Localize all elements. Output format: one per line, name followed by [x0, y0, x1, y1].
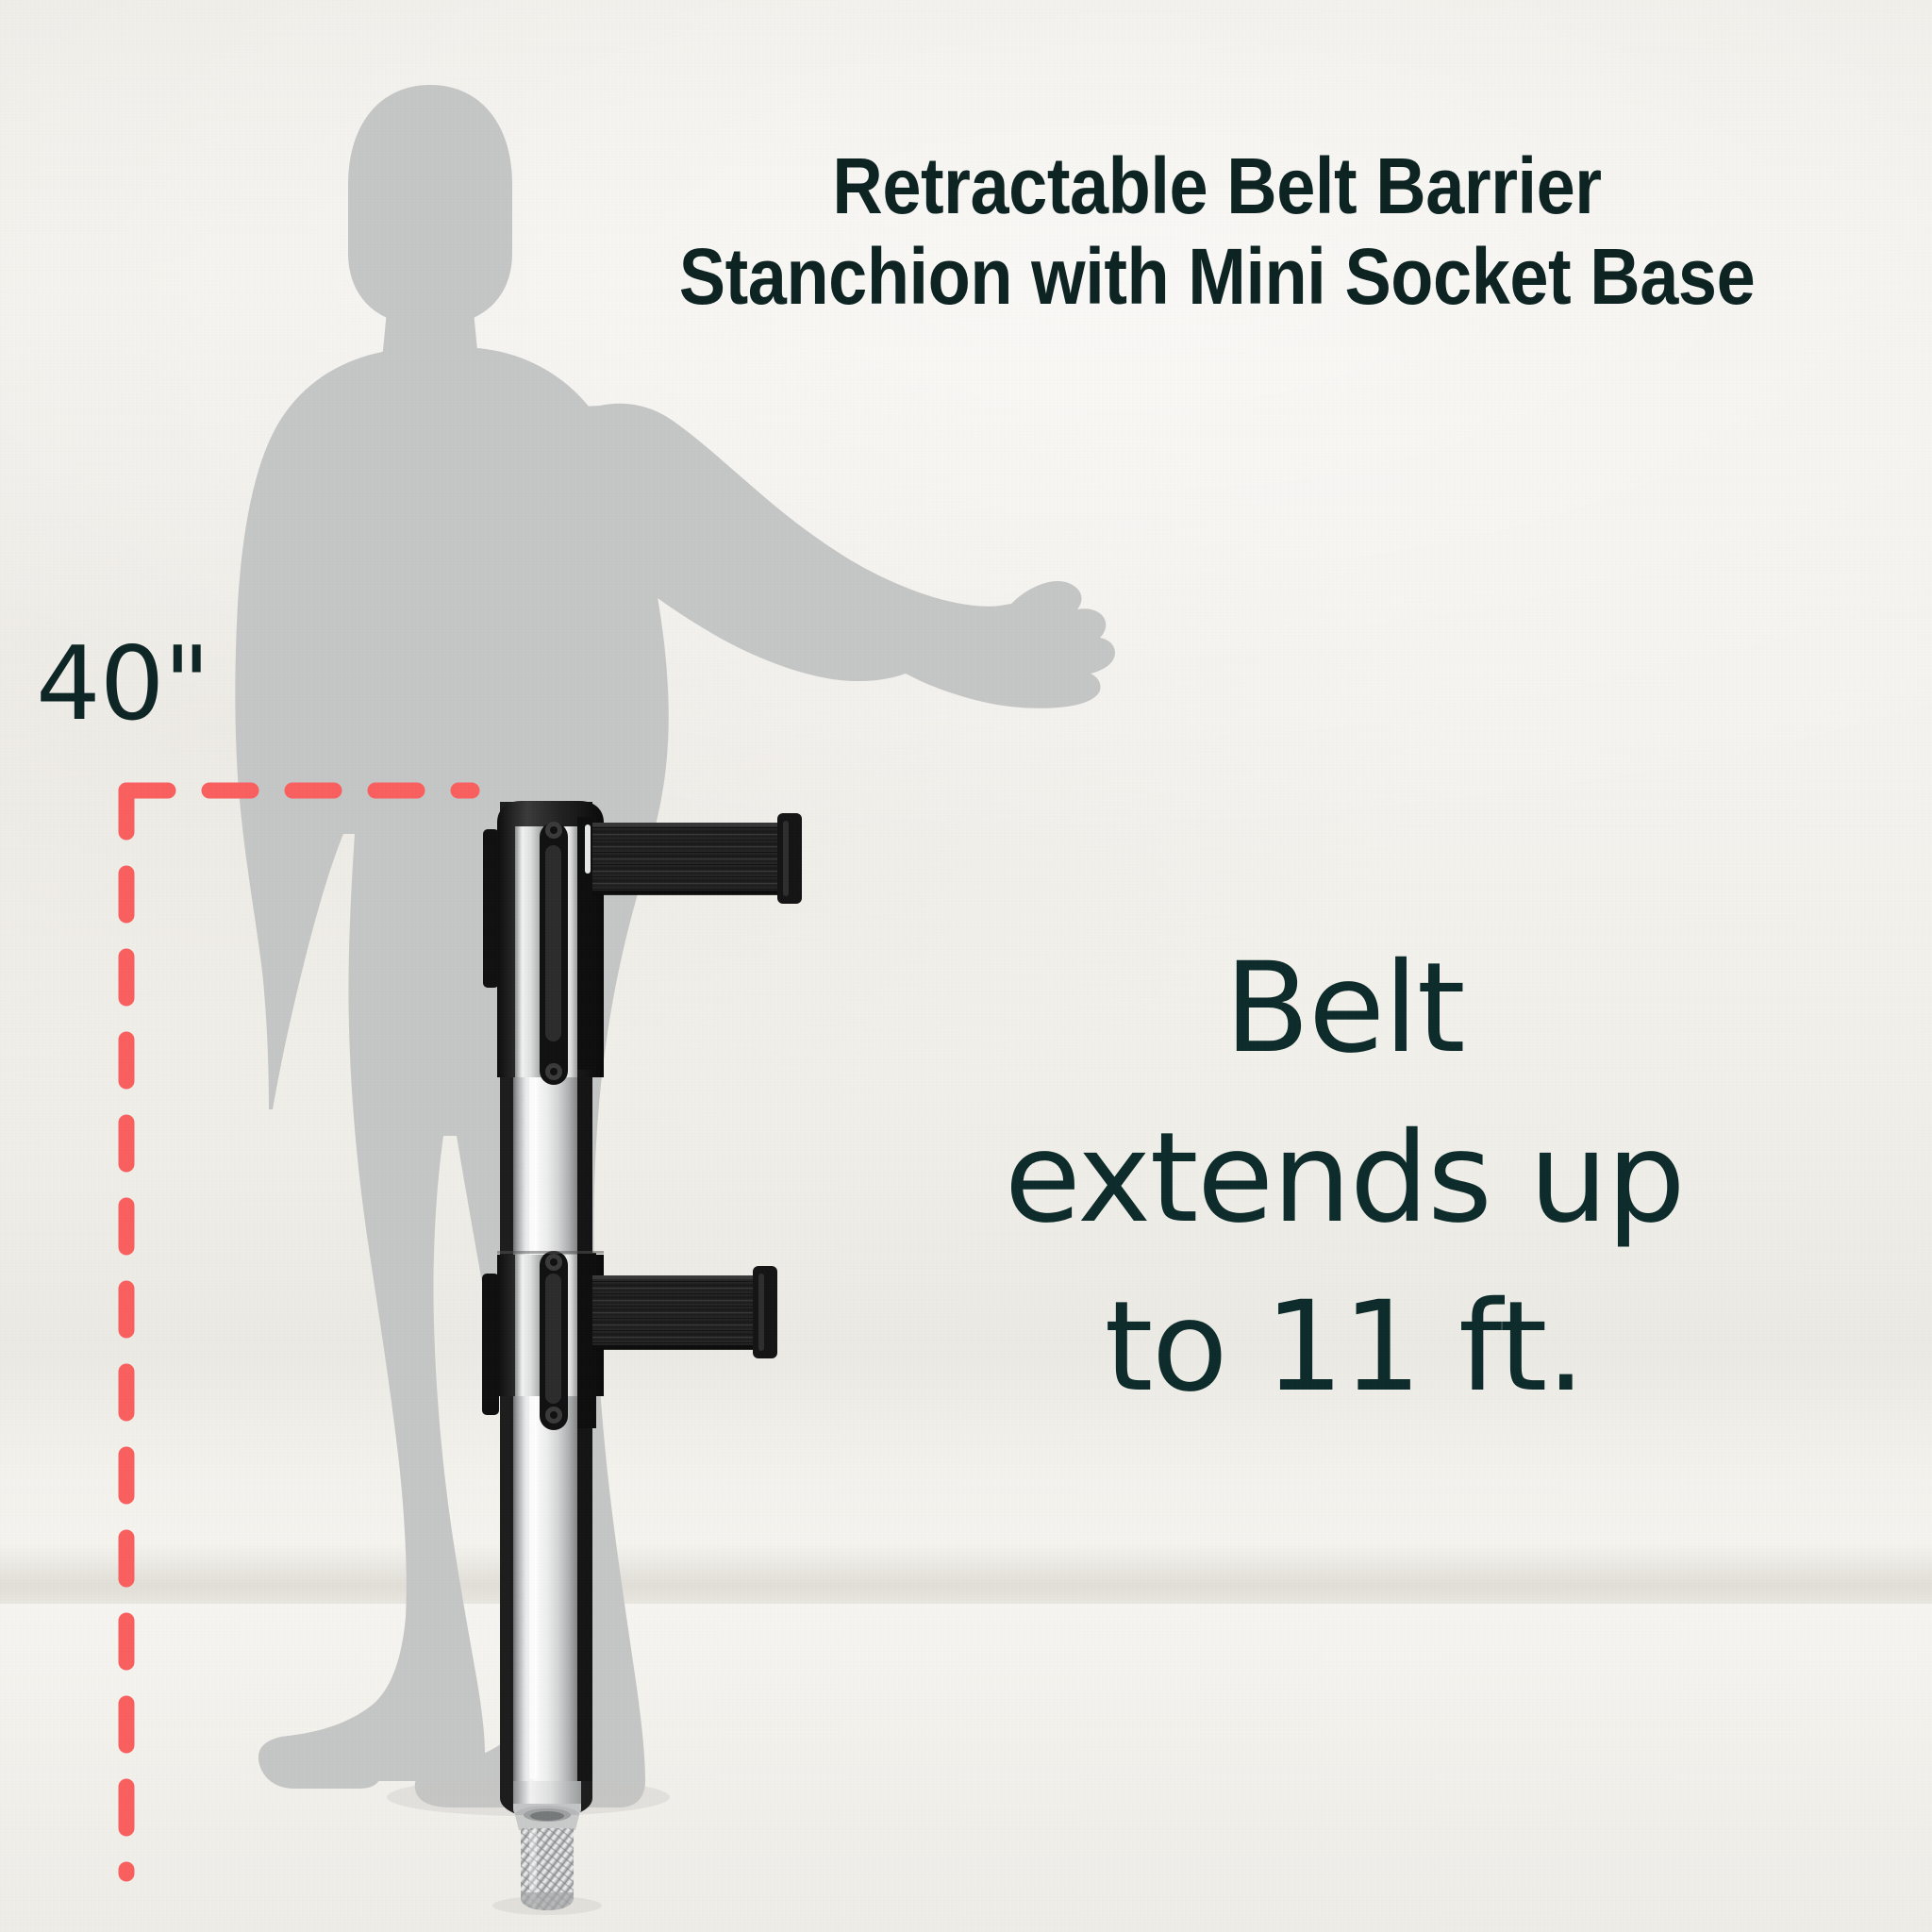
- feature-callout: Belt extends up to 11 ft.: [830, 924, 1858, 1433]
- belt-housing-upper: [483, 801, 604, 1085]
- feature-callout-line-1: Belt: [830, 924, 1858, 1094]
- retractable-belt-lower: [592, 1266, 777, 1358]
- retractable-belt-upper: [592, 813, 802, 904]
- headline-line-2: Stanchion with Mini Socket Base: [611, 232, 1824, 323]
- infographic-canvas: 40": [0, 0, 1932, 1932]
- headline-line-1: Retractable Belt Barrier: [611, 142, 1824, 232]
- page-title: Retractable Belt Barrier Stanchion with …: [611, 142, 1824, 323]
- mini-socket-base-icon: [492, 1806, 602, 1915]
- feature-callout-line-2: extends up: [830, 1094, 1858, 1264]
- feature-callout-line-3: to 11 ft.: [830, 1263, 1858, 1433]
